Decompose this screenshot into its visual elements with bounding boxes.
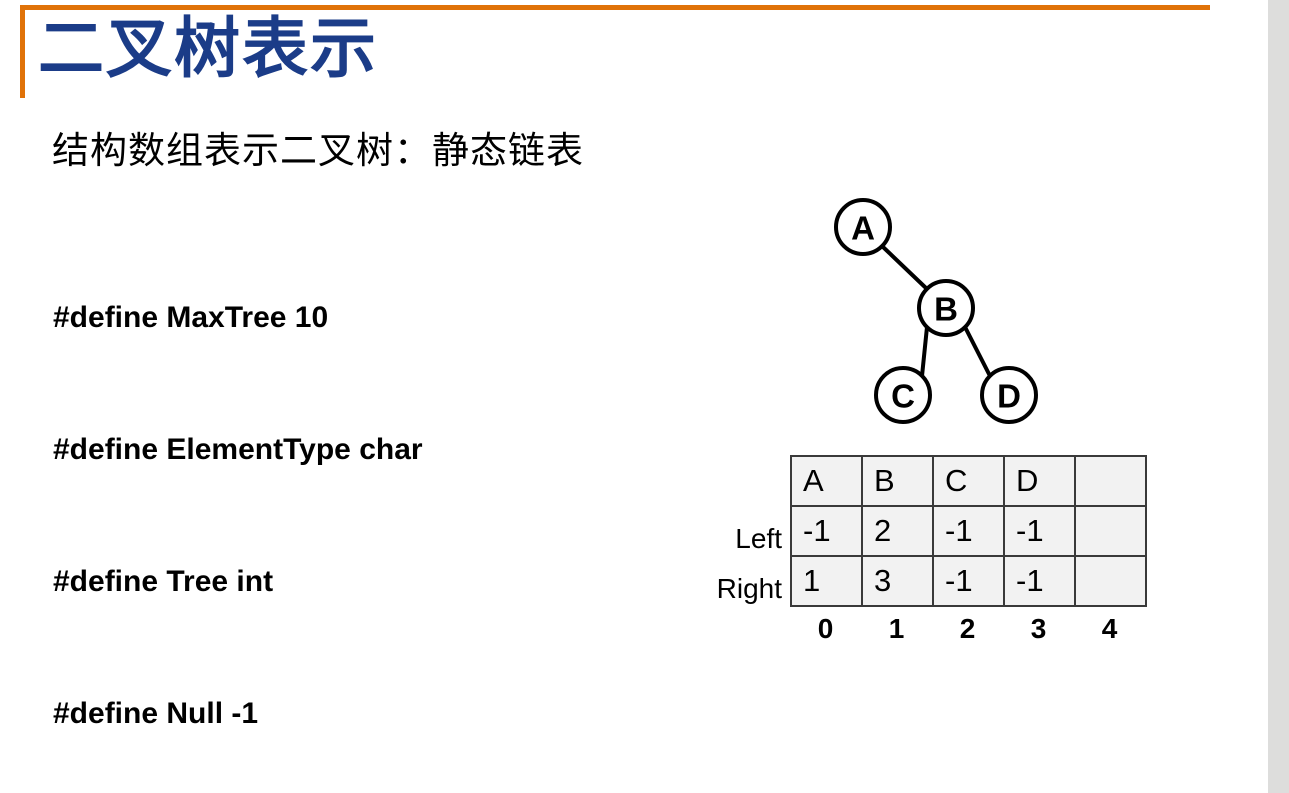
table-cell xyxy=(1075,456,1146,506)
table-cell: 3 xyxy=(862,556,933,606)
tree-edge-b-d xyxy=(965,327,990,376)
code-line: #define MaxTree 10 xyxy=(53,296,456,340)
table-cell: -1 xyxy=(933,556,1004,606)
slide-canvas: 二叉树表示 结构数组表示二叉树：静态链表 #define MaxTree 10 … xyxy=(0,0,1268,793)
table-cell: -1 xyxy=(933,506,1004,556)
table-cell xyxy=(1075,506,1146,556)
table-cell: -1 xyxy=(1004,556,1075,606)
code-line: #define Null -1 xyxy=(53,692,456,736)
table-row-right: 1 3 -1 -1 xyxy=(791,556,1146,606)
table-row-element: A B C D xyxy=(791,456,1146,506)
page-subtitle: 结构数组表示二叉树：静态链表 xyxy=(52,120,584,174)
accent-rule-top xyxy=(20,5,1210,10)
tree-node-label-d: D xyxy=(997,378,1021,415)
code-block: #define MaxTree 10 #define ElementType c… xyxy=(53,208,456,793)
accent-rule-left xyxy=(20,5,25,98)
table-cell: 2 xyxy=(862,506,933,556)
table-cell: A xyxy=(791,456,862,506)
tree-node-label-a: A xyxy=(851,210,875,247)
tree-edge-a-b xyxy=(882,246,927,289)
table-cell: -1 xyxy=(1004,506,1075,556)
table-cell: C xyxy=(933,456,1004,506)
tree-node-label-c: C xyxy=(891,378,915,415)
tree-node-label-b: B xyxy=(934,291,958,328)
page-gutter xyxy=(1268,0,1289,793)
table-index-label: 0 xyxy=(790,613,861,645)
table-cell xyxy=(1075,556,1146,606)
row-label-left: Left xyxy=(704,523,782,555)
row-label-right: Right xyxy=(704,573,782,605)
tree-edge-b-c xyxy=(922,327,927,376)
code-line: #define Tree int xyxy=(53,560,456,604)
static-link-table: A B C D -1 2 -1 -1 1 3 -1 -1 xyxy=(790,455,1147,607)
table-cell: 1 xyxy=(791,556,862,606)
code-line: #define ElementType char xyxy=(53,428,456,472)
table-index-label: 3 xyxy=(1003,613,1074,645)
table-cell: -1 xyxy=(791,506,862,556)
table-index-label: 2 xyxy=(932,613,1003,645)
table-index-label: 4 xyxy=(1074,613,1145,645)
table-cell: D xyxy=(1004,456,1075,506)
table-row-left: -1 2 -1 -1 xyxy=(791,506,1146,556)
table-index-row: 0 1 2 3 4 xyxy=(790,613,1145,645)
page-title: 二叉树表示 xyxy=(38,14,378,87)
table-index-label: 1 xyxy=(861,613,932,645)
binary-tree-diagram: A B C D xyxy=(790,185,1080,435)
table-cell: B xyxy=(862,456,933,506)
